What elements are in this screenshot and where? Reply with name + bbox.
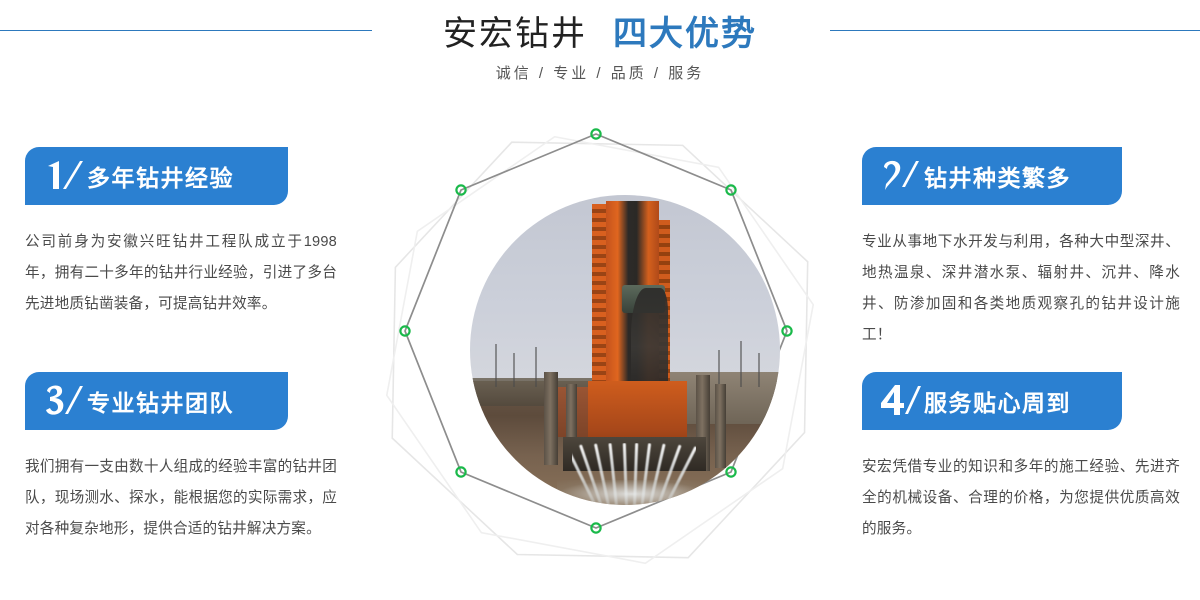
card-2-body: 专业从事地下水开发与利用，各种大中型深井、地热温泉、深井潜水泵、辐射井、沉井、降… (862, 227, 1180, 351)
card-3-header[interactable]: 专业钻井团队 (25, 372, 288, 430)
card-4-header[interactable]: 服务贴心周到 (862, 372, 1122, 430)
number-3-icon (39, 378, 85, 424)
card-1-title: 多年钻井经验 (87, 159, 234, 193)
photo-tree (513, 353, 515, 387)
card-4-body: 安宏凭借专业的知识和多年的施工经验、先进齐全的机械设备、合理的价格，为您提供优质… (862, 452, 1180, 545)
page-root: 安宏钻井四大优势 诚信 / 专业 / 品质 / 服务 (0, 0, 1200, 600)
card-2-header[interactable]: 钻井种类繁多 (862, 147, 1122, 205)
advantage-card-4[interactable]: 服务贴心周到 安宏凭借专业的知识和多年的施工经验、先进齐全的机械设备、合理的价格… (862, 372, 1192, 545)
number-1-icon (39, 153, 85, 199)
number-2-icon (876, 153, 922, 199)
title-brand: 安宏钻井 (443, 15, 587, 53)
photo-tree (495, 344, 497, 387)
page-header: 安宏钻井四大优势 诚信 / 专业 / 品质 / 服务 (0, 0, 1200, 110)
card-2-title: 钻井种类繁多 (924, 159, 1071, 193)
advantage-card-1[interactable]: 多年钻井经验 公司前身为安徽兴旺钻井工程队成立于1998年，拥有二十多年的钻井行… (25, 147, 355, 320)
photo-outrigger (715, 384, 726, 468)
photo-tree (740, 341, 742, 388)
photo-tree (535, 347, 537, 387)
advantage-card-3[interactable]: 专业钻井团队 我们拥有一支由数十人组成的经验丰富的钻井团队，现场测水、探水，能根… (25, 372, 355, 545)
page-title: 安宏钻井四大优势 (0, 6, 1200, 55)
title-highlight: 四大优势 (613, 15, 757, 53)
page-subtitle: 诚信 / 专业 / 品质 / 服务 (0, 62, 1200, 83)
centre-graphic (360, 110, 840, 590)
drilling-rig-photo (470, 195, 780, 505)
card-1-header[interactable]: 多年钻井经验 (25, 147, 288, 205)
card-3-body: 我们拥有一支由数十人组成的经验丰富的钻井团队，现场测水、探水，能根据您的实际需求… (25, 452, 337, 545)
card-3-title: 专业钻井团队 (87, 384, 234, 418)
photo-outrigger (544, 372, 558, 465)
photo-tree (758, 353, 760, 387)
photo-water-pool (557, 480, 706, 505)
advantage-card-2[interactable]: 钻井种类繁多 专业从事地下水开发与利用，各种大中型深井、地热温泉、深井潜水泵、辐… (862, 147, 1192, 351)
number-4-icon (876, 378, 922, 424)
photo-tree (718, 350, 720, 387)
card-1-body: 公司前身为安徽兴旺钻井工程队成立于1998年，拥有二十多年的钻井行业经验，引进了… (25, 227, 337, 320)
card-4-title: 服务贴心周到 (924, 384, 1071, 418)
